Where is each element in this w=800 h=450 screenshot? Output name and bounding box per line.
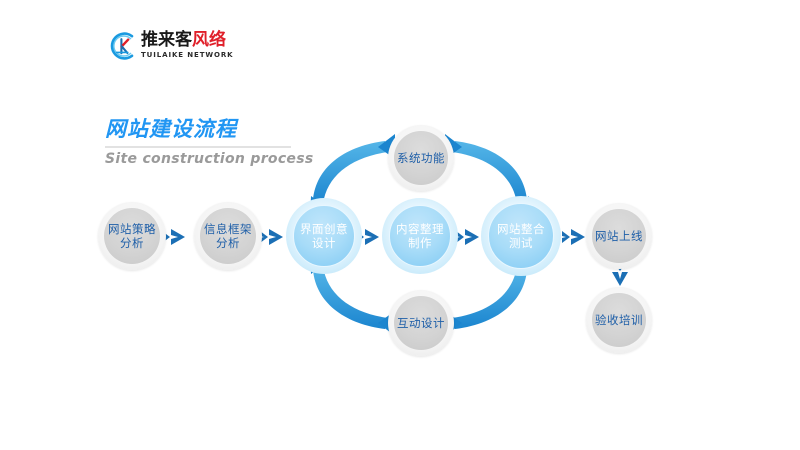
node-label: 界面创意 设计 [300, 222, 348, 250]
node-disc: 网站上线 [592, 209, 646, 263]
node-label: 信息框架 分析 [204, 222, 252, 250]
node-website-strategy-analysis[interactable]: 网站策略 分析 [98, 202, 166, 270]
site-construction-flow-diagram: 网站策略 分析 信息框架 分析 界面创意 设计 内容整理 制作 网站整合 测试 … [0, 0, 800, 450]
node-disc: 内容整理 制作 [389, 205, 451, 267]
node-acceptance-training[interactable]: 验收培训 [586, 287, 652, 353]
node-label: 互动设计 [397, 316, 445, 330]
node-website-integration-testing[interactable]: 网站整合 测试 [481, 196, 561, 276]
node-disc: 界面创意 设计 [293, 205, 355, 267]
node-disc: 网站整合 测试 [488, 203, 554, 269]
node-label: 网站整合 测试 [497, 222, 545, 250]
node-label: 验收培训 [595, 313, 643, 327]
node-disc: 互动设计 [394, 296, 448, 350]
node-interaction-design[interactable]: 互动设计 [388, 290, 454, 356]
node-label: 网站策略 分析 [108, 222, 156, 250]
node-disc: 验收培训 [592, 293, 646, 347]
arrow-framework-to-design [259, 227, 285, 247]
node-system-function[interactable]: 系统功能 [388, 125, 454, 191]
node-disc: 信息框架 分析 [200, 208, 256, 264]
node-content-organization-production[interactable]: 内容整理 制作 [382, 198, 458, 274]
node-disc: 系统功能 [394, 131, 448, 185]
node-website-launch[interactable]: 网站上线 [586, 203, 652, 269]
node-disc: 网站策略 分析 [104, 208, 160, 264]
node-label: 网站上线 [595, 229, 643, 243]
node-information-framework-analysis[interactable]: 信息框架 分析 [194, 202, 262, 270]
arrow-integration-to-launch [561, 227, 587, 247]
arrow-content-to-integration [455, 227, 481, 247]
node-interface-creative-design[interactable]: 界面创意 设计 [286, 198, 362, 274]
node-label: 内容整理 制作 [396, 222, 444, 250]
node-label: 系统功能 [397, 151, 445, 165]
